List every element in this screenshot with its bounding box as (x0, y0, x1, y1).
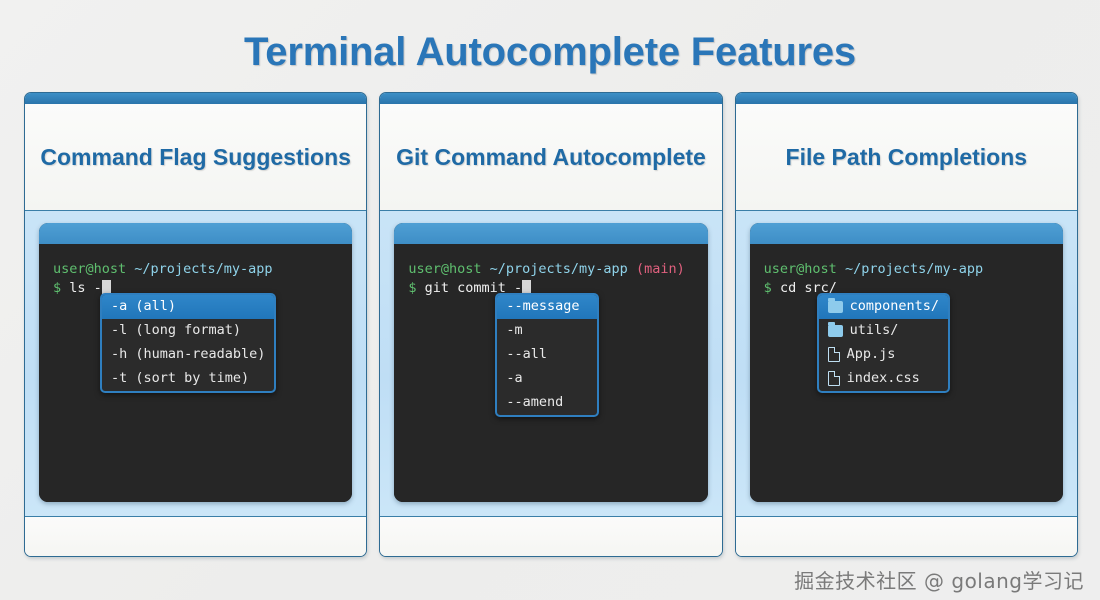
prompt-dollar-sign: $ (764, 280, 772, 296)
card-header: Git Command Autocomplete (380, 104, 721, 211)
card-header: Command Flag Suggestions (25, 104, 366, 211)
prompt-user-host: user@host (764, 261, 837, 277)
terminal-screen[interactable]: user@host ~/projects/my-app$ ls --a (all… (39, 244, 352, 502)
terminal-titlebar[interactable] (39, 223, 352, 244)
autocomplete-option[interactable]: --message (497, 295, 597, 319)
autocomplete-option[interactable]: App.js (819, 343, 948, 367)
card-header: File Path Completions (736, 104, 1077, 211)
prompt-path: ~/projects/my-app (845, 261, 983, 277)
card-accent-bar (380, 93, 721, 104)
autocomplete-dropdown[interactable]: -a (all)-l (long format)-h (human-readab… (100, 293, 276, 393)
autocomplete-dropdown[interactable]: --message-m--all-a--amend (495, 293, 599, 417)
card-title: Git Command Autocomplete (396, 143, 706, 172)
autocomplete-option-label: --message (506, 297, 579, 316)
card-title: File Path Completions (786, 143, 1028, 172)
autocomplete-option-label: index.css (847, 369, 920, 388)
feature-card: Git Command Autocompleteuser@host ~/proj… (379, 92, 722, 557)
autocomplete-option-label: --all (506, 345, 547, 364)
autocomplete-option[interactable]: -a (all) (102, 295, 274, 319)
terminal-titlebar[interactable] (394, 223, 707, 244)
autocomplete-option[interactable]: -h (human-readable) (102, 343, 274, 367)
prompt-path: ~/projects/my-app (134, 261, 272, 277)
autocomplete-option[interactable]: -a (497, 367, 597, 391)
card-body: user@host ~/projects/my-app$ ls --a (all… (25, 211, 366, 516)
autocomplete-option[interactable]: -t (sort by time) (102, 367, 274, 391)
slide-root: Terminal Autocomplete Features Command F… (0, 0, 1100, 600)
terminal-window[interactable]: user@host ~/projects/my-app$ cd src/comp… (750, 223, 1063, 502)
terminal-prompt-line: user@host ~/projects/my-app (main) (408, 260, 693, 279)
terminal-prompt-line: user@host ~/projects/my-app (764, 260, 1049, 279)
autocomplete-option[interactable]: -m (497, 319, 597, 343)
card-body: user@host ~/projects/my-app$ cd src/comp… (736, 211, 1077, 516)
autocomplete-option-label: -l (long format) (111, 321, 241, 340)
folder-icon (828, 325, 843, 337)
card-accent-bar (736, 93, 1077, 104)
feature-card: File Path Completionsuser@host ~/project… (735, 92, 1078, 557)
terminal-window[interactable]: user@host ~/projects/my-app$ ls --a (all… (39, 223, 352, 502)
autocomplete-option-label: -a (506, 369, 522, 388)
card-accent-bar (25, 93, 366, 104)
terminal-screen[interactable]: user@host ~/projects/my-app$ cd src/comp… (750, 244, 1063, 502)
autocomplete-option-label: -t (sort by time) (111, 369, 249, 388)
prompt-git-branch: (main) (636, 261, 685, 277)
autocomplete-option[interactable]: --all (497, 343, 597, 367)
prompt-user-host: user@host (408, 261, 481, 277)
autocomplete-dropdown[interactable]: components/utils/App.jsindex.css (817, 293, 950, 393)
autocomplete-option-label: -h (human-readable) (111, 345, 265, 364)
autocomplete-option-label: utils/ (850, 321, 899, 340)
terminal-screen[interactable]: user@host ~/projects/my-app (main)$ git … (394, 244, 707, 502)
typed-command: ls - (69, 280, 102, 296)
autocomplete-option[interactable]: --amend (497, 391, 597, 415)
file-icon (828, 347, 840, 362)
autocomplete-option[interactable]: index.css (819, 367, 948, 391)
autocomplete-option[interactable]: -l (long format) (102, 319, 274, 343)
terminal-window[interactable]: user@host ~/projects/my-app (main)$ git … (394, 223, 707, 502)
prompt-dollar-sign: $ (53, 280, 61, 296)
autocomplete-option-label: --amend (506, 393, 563, 412)
autocomplete-option-label: components/ (850, 297, 939, 316)
autocomplete-option[interactable]: components/ (819, 295, 948, 319)
card-title: Command Flag Suggestions (40, 143, 351, 172)
autocomplete-option-label: -m (506, 321, 522, 340)
feature-card: Command Flag Suggestionsuser@host ~/proj… (24, 92, 367, 557)
card-body: user@host ~/projects/my-app (main)$ git … (380, 211, 721, 516)
feature-card-row: Command Flag Suggestionsuser@host ~/proj… (0, 75, 1100, 557)
autocomplete-option-label: App.js (847, 345, 896, 364)
prompt-path: ~/projects/my-app (490, 261, 628, 277)
autocomplete-option-label: -a (all) (111, 297, 176, 316)
prompt-user-host: user@host (53, 261, 126, 277)
page-title: Terminal Autocomplete Features (0, 0, 1100, 75)
card-footer (380, 516, 721, 556)
folder-icon (828, 301, 843, 313)
terminal-prompt-line: user@host ~/projects/my-app (53, 260, 338, 279)
file-icon (828, 371, 840, 386)
card-footer (25, 516, 366, 556)
prompt-dollar-sign: $ (408, 280, 416, 296)
watermark-text: 掘金技术社区 @ golang学习记 (794, 565, 1084, 594)
terminal-titlebar[interactable] (750, 223, 1063, 244)
card-footer (736, 516, 1077, 556)
autocomplete-option[interactable]: utils/ (819, 319, 948, 343)
